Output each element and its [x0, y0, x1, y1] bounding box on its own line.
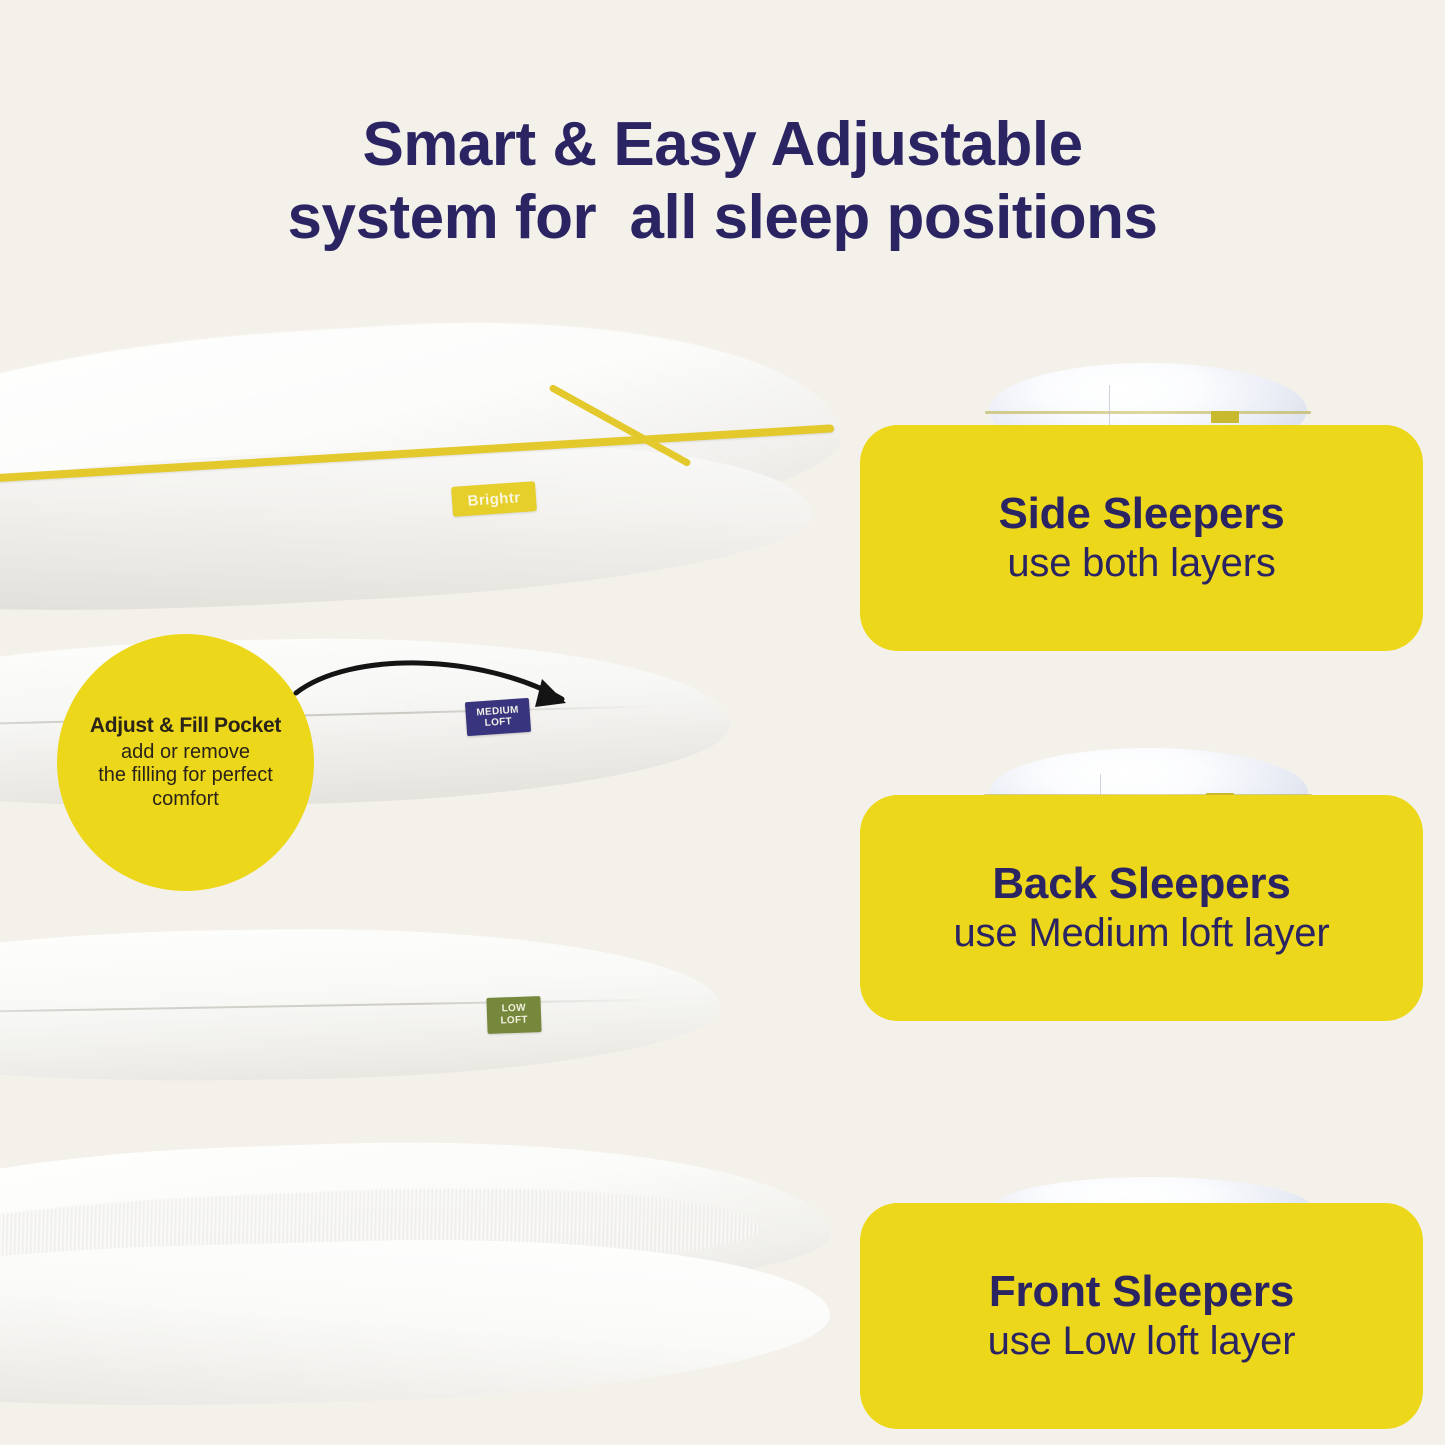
callout-front-sleepers[interactable]: Front Sleepers use Low loft layer	[860, 1203, 1423, 1429]
callout-back-sleepers[interactable]: Back Sleepers use Medium loft layer	[860, 795, 1423, 1021]
thumbnail-brightr-tag	[1211, 411, 1239, 423]
low-loft-tag-line-1: LOW	[501, 1003, 526, 1016]
callout-front-sleepers-title: Front Sleepers	[989, 1267, 1294, 1316]
low-loft-tag-line-2: LOFT	[500, 1015, 528, 1028]
adjust-desc-line-2: the filling for perfect	[98, 764, 273, 788]
callout-side-sleepers[interactable]: Side Sleepers use both layers	[860, 425, 1423, 651]
medium-loft-tag: MEDIUM LOFT	[465, 698, 531, 736]
infographic-canvas: Smart & Easy Adjustable system for all s…	[0, 0, 1445, 1445]
adjust-fill-pocket-title: Adjust & Fill Pocket	[90, 714, 281, 738]
open-pillow-case-image	[0, 1145, 850, 1445]
adjust-fill-pocket-callout: Adjust & Fill Pocket add or remove the f…	[57, 634, 314, 891]
hero-pillow-image	[0, 330, 880, 620]
adjust-desc-line-3: comfort	[98, 788, 273, 812]
adjust-desc-line-1: add or remove	[98, 741, 273, 765]
adjust-fill-pocket-description: add or remove the filling for perfect co…	[98, 741, 273, 812]
page-title-line-2: system for all sleep positions	[0, 181, 1445, 254]
page-title-line-1: Smart & Easy Adjustable	[0, 108, 1445, 181]
callout-side-sleepers-title: Side Sleepers	[999, 489, 1285, 538]
low-loft-tag: LOW LOFT	[486, 996, 541, 1034]
callout-side-sleepers-subtitle: use both layers	[1007, 539, 1275, 587]
callout-back-sleepers-title: Back Sleepers	[992, 859, 1290, 908]
page-title: Smart & Easy Adjustable system for all s…	[0, 108, 1445, 254]
thumbnail-piping-line	[985, 411, 1311, 414]
brightr-brand-tag: Brightr	[451, 481, 537, 517]
callout-front-sleepers-subtitle: use Low loft layer	[988, 1317, 1296, 1365]
callout-back-sleepers-subtitle: use Medium loft layer	[954, 909, 1330, 957]
medium-loft-tag-line-2: LOFT	[484, 716, 512, 729]
